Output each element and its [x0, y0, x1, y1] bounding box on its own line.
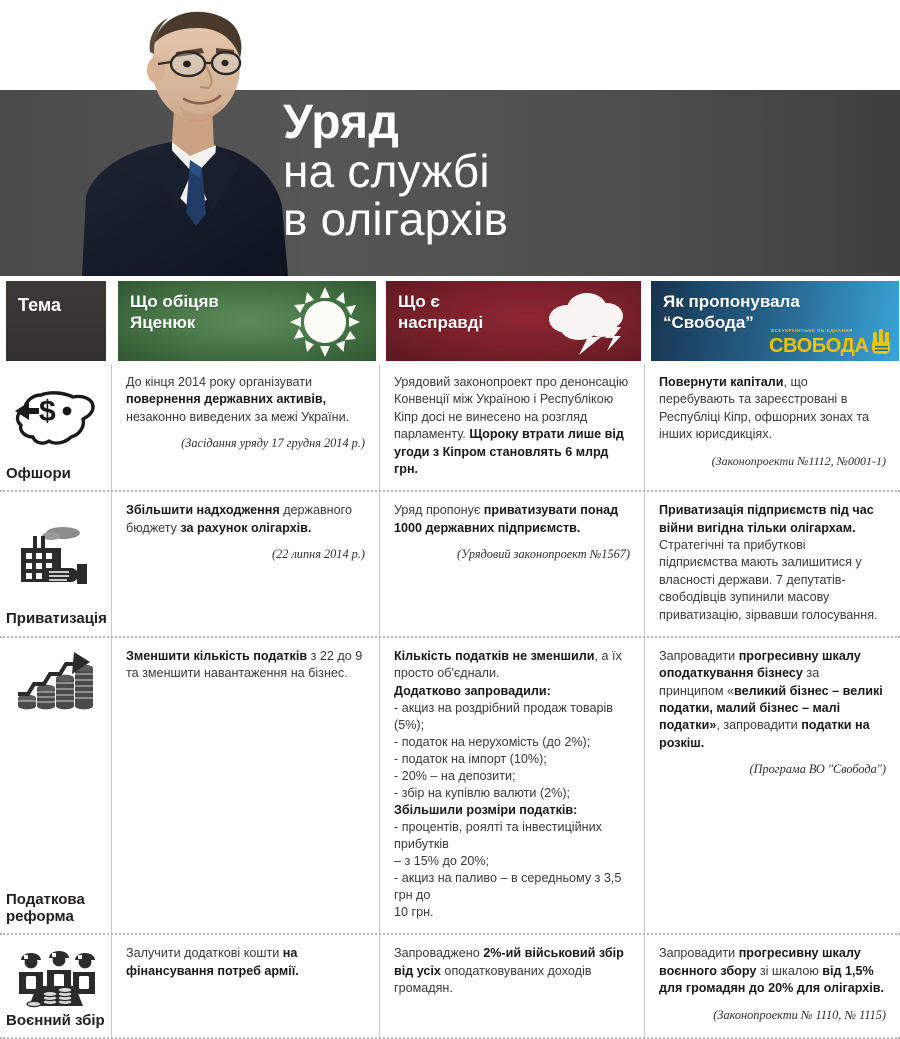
table-row: Податкова реформа Зменшити кількість под… [0, 638, 900, 936]
promised-source: (Засідання уряду 17 грудня 2014 р.) [126, 436, 365, 451]
list-item: – з 15% до 20%; [394, 853, 630, 870]
hero-title: Уряд на службі в олігархів [283, 98, 508, 244]
list-item: - податок на нерухомість (до 2%); [394, 734, 630, 751]
table-row: Приватизація Збільшити надходження держа… [0, 492, 900, 638]
svoboda-text: Запровадити прогресивну шкалу оподаткува… [659, 648, 886, 752]
cell-svoboda-tax-reform: Запровадити прогресивну шкалу оподаткува… [645, 638, 900, 934]
hero-title-line3: в олігархів [283, 196, 508, 244]
theme-label-military-levy: Воєнний збір [2, 1013, 109, 1030]
svoboda-text: Запровадити прогресивну шкалу воєнного з… [659, 945, 886, 997]
svoboda-logo-top-text: ВСЕУКРАЇНСЬКЕ ОБ'ЄДНАННЯ [771, 328, 853, 333]
factory-hand-icon [15, 524, 97, 586]
promised-text: До кінця 2014 року організувати повернен… [126, 374, 365, 426]
svoboda-text: Повернути капітали, що перебувають та за… [659, 374, 886, 444]
table-header-row: Тема Що обіцяв Яценюк [0, 278, 900, 364]
promised-text: Залучити додаткові кошти на фінансування… [126, 945, 365, 980]
header-reality-label: Що є насправді [398, 292, 483, 333]
promised-source: (22 липня 2014 р.) [126, 547, 365, 562]
svoboda-logo-main-text: СВОБОДА [769, 335, 869, 357]
cell-promised-privatization: Збільшити надходження державного бюджету… [112, 492, 380, 636]
reality-text: Уряд пропонує приватизувати понад 1000 д… [394, 502, 630, 537]
list-item: - процентів, роялті та інвестиційних при… [394, 819, 630, 853]
header-cell-svoboda: Як пропонувала “Свобода” ВСЕУКРАЇНСЬКЕ О… [651, 281, 900, 361]
svoboda-logo: ВСЕУКРАЇНСЬКЕ ОБ'ЄДНАННЯ СВОБОДА [769, 323, 893, 357]
list-item: - акциз на паливо – в середньому з 3,5 г… [394, 870, 630, 904]
reality-text: Запроваджено 2%-ий військовий збір від у… [394, 945, 630, 997]
reality-list-title-2: Збільшили розміри податків: [394, 802, 630, 819]
cell-promised-military-levy: Залучити додаткові кошти на фінансування… [112, 935, 380, 1037]
promised-text: Збільшити надходження державного бюджету… [126, 502, 365, 537]
svoboda-source: (Законопроекти №1112, №0001-1) [659, 454, 886, 469]
cell-promised-offshore: До кінця 2014 року організувати повернен… [112, 364, 380, 490]
ukraine-map-dollar-icon: $ [13, 389, 99, 447]
hero-title-line1: Уряд [283, 98, 508, 148]
table-row: Воєнний збір Залучити додаткові кошти на… [0, 935, 900, 1039]
reality-source: (Урядовий законопроект №1567) [394, 547, 630, 562]
list-item: - акциз на роздрібний продаж товарів (5%… [394, 700, 630, 734]
theme-label-tax-reform: Податкова реформа [2, 892, 109, 925]
list-item: - 20% – на депозити; [394, 768, 630, 785]
cell-promised-tax-reform: Зменшити кількість податків з 22 до 9 та… [112, 638, 380, 934]
hero-banner: Уряд на службі в олігархів [0, 0, 900, 278]
header-cell-promised: Що обіцяв Яценюк [118, 281, 386, 361]
sun-icon [288, 285, 362, 359]
promised-text: Зменшити кількість податків з 22 до 9 та… [126, 648, 365, 683]
header-cell-reality: Що є насправді [386, 281, 651, 361]
svoboda-hand-emblem [872, 329, 890, 354]
cell-reality-offshore: Урядовий законопроект про денонсацію Кон… [380, 364, 645, 490]
soldiers-coins-icon [13, 946, 99, 1008]
portrait-yatsenyuk [80, 0, 300, 276]
theme-label-privatization: Приватизація [2, 611, 109, 628]
reality-list-title-1: Додатково запровадили: [394, 683, 630, 700]
theme-cell-tax-reform: Податкова реформа [0, 638, 112, 934]
hero-title-line2: на службі [283, 148, 508, 196]
header-cell-theme: Тема [6, 281, 118, 361]
cell-svoboda-privatization: Приватизація підприємств під час війни в… [645, 492, 900, 636]
list-item: - податок на імпорт (10%); [394, 751, 630, 768]
cell-reality-privatization: Уряд пропонує приватизувати понад 1000 д… [380, 492, 645, 636]
theme-cell-offshore: $ Офшори [0, 364, 112, 490]
header-promised-label: Що обіцяв Яценюк [130, 292, 219, 333]
svoboda-source: (Програма ВО "Свобода") [659, 762, 886, 777]
comparison-table: Тема Що обіцяв Яценюк [0, 278, 900, 841]
svoboda-source: (Законопроекти № 1110, № 1115) [659, 1008, 886, 1023]
list-item: 10 грн. [394, 904, 630, 921]
cell-reality-military-levy: Запроваджено 2%-ий військовий збір від у… [380, 935, 645, 1037]
infographic-page: Уряд на службі в олігархів Тема Що обіця… [0, 0, 900, 841]
svoboda-text: Приватизація підприємств під час війни в… [659, 502, 886, 624]
reality-text: Кількість податків не зменшили, а їх про… [394, 648, 630, 683]
list-item: - збір на купівлю валюти (2%); [394, 785, 630, 802]
reality-list-1: - акциз на роздрібний продаж товарів (5%… [394, 700, 630, 802]
svg-text:$: $ [39, 395, 56, 428]
theme-cell-privatization: Приватизація [0, 492, 112, 636]
header-theme-label: Тема [18, 295, 61, 316]
theme-cell-military-levy: Воєнний збір [0, 935, 112, 1037]
theme-label-offshore: Офшори [2, 466, 109, 483]
reality-text: Урядовий законопроект про денонсацію Кон… [394, 374, 630, 478]
cell-reality-tax-reform: Кількість податків не зменшили, а їх про… [380, 638, 645, 934]
storm-cloud-icon [539, 289, 631, 355]
reality-list-2: - процентів, роялті та інвестиційних при… [394, 819, 630, 921]
growth-chart-coins-icon [16, 650, 96, 716]
cell-svoboda-military-levy: Запровадити прогресивну шкалу воєнного з… [645, 935, 900, 1037]
cell-svoboda-offshore: Повернути капітали, що перебувають та за… [645, 364, 900, 490]
table-row: $ Офшори До кінця 2014 року організувати… [0, 364, 900, 492]
